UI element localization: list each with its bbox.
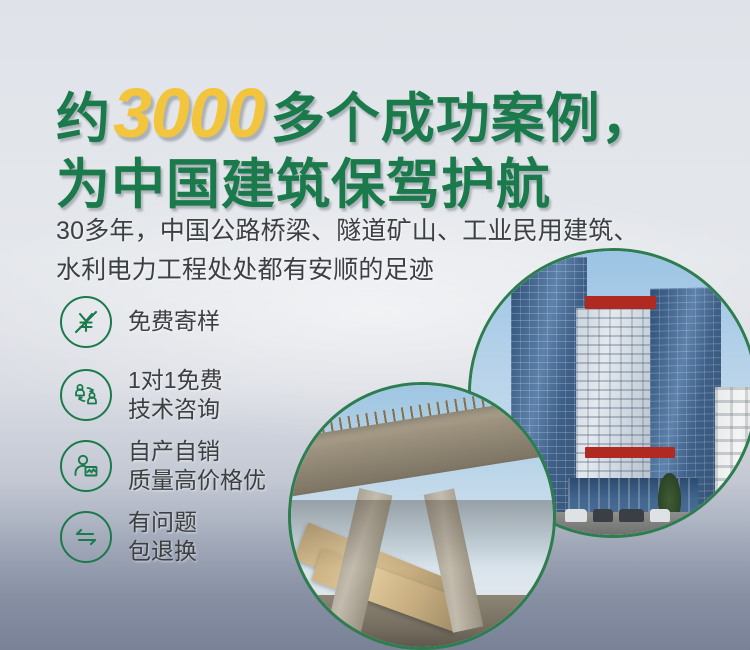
headline-suffix: 多个成功案例， [271, 89, 656, 149]
headline-number: 3000 [111, 74, 271, 152]
feature-label-line-2: 包退换 [128, 537, 197, 566]
feature-item-return-exchange: 有问题 包退换 [60, 508, 266, 567]
headline-line-1: 约3000多个成功案例， [56, 78, 656, 148]
bridge-photo [288, 382, 556, 650]
promo-banner: 约3000多个成功案例， 为中国建筑保驾护航 30多年，中国公路桥梁、隧道矿山、… [0, 0, 750, 650]
feature-label-line-2: 技术咨询 [128, 395, 223, 424]
feature-item-one-on-one-consult: 1对1免费 技术咨询 [60, 366, 266, 425]
parked-car [619, 509, 645, 522]
feature-label-line-1: 免费寄样 [128, 307, 220, 336]
bridge-photo-inner [291, 385, 553, 647]
free-sample-icon [60, 296, 112, 348]
building-annex-white [715, 387, 750, 529]
feature-label-line-1: 1对1免费 [128, 366, 223, 395]
subtitle-line-1: 30多年，中国公路桥梁、隧道矿山、工业民用建筑、 [56, 212, 639, 251]
building-sign-upper [585, 296, 656, 309]
parked-car [593, 509, 613, 522]
feature-label-line-1: 有问题 [128, 508, 197, 537]
return-exchange-icon [60, 511, 112, 563]
one-on-one-consult-icon [60, 369, 112, 421]
feature-label-line-1: 自产自销 [128, 437, 266, 466]
feature-label-line-2: 质量高价格优 [128, 466, 266, 495]
feature-label: 免费寄样 [128, 307, 220, 336]
feature-list: 免费寄样 1对1免费 技术咨询 [60, 296, 266, 579]
headline-line-2: 为中国建筑保驾护航 [56, 158, 656, 212]
headline: 约3000多个成功案例， 为中国建筑保驾护航 [56, 78, 656, 212]
subtitle: 30多年，中国公路桥梁、隧道矿山、工业民用建筑、 水利电力工程处处都有安顺的足迹 [56, 212, 639, 290]
self-manufacture-icon [60, 440, 112, 492]
feature-item-free-sample: 免费寄样 [60, 296, 266, 348]
headline-prefix: 约 [56, 89, 111, 149]
feature-label: 自产自销 质量高价格优 [128, 437, 266, 496]
feature-label: 1对1免费 技术咨询 [128, 366, 223, 425]
building-sign-lower [585, 447, 676, 458]
bridge-underside-shadow [291, 500, 553, 568]
feature-item-self-manufacture: 自产自销 质量高价格优 [60, 437, 266, 496]
subtitle-line-2: 水利电力工程处处都有安顺的足迹 [56, 251, 639, 290]
parked-car [650, 509, 670, 522]
parked-car [565, 509, 588, 522]
feature-label: 有问题 包退换 [128, 508, 197, 567]
